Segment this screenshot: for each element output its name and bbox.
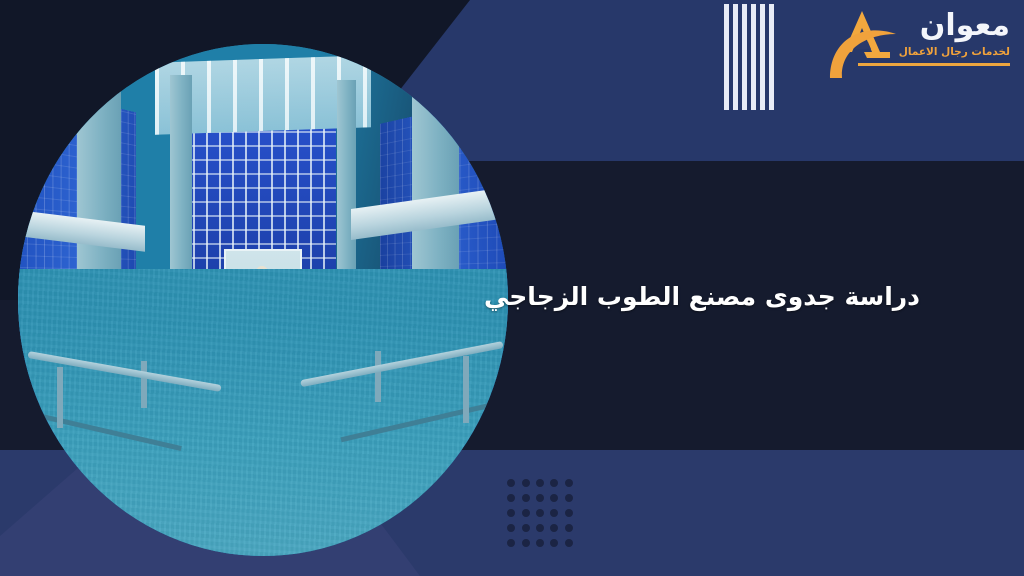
grid-dot bbox=[550, 524, 558, 532]
vertical-bars-icon bbox=[724, 4, 782, 110]
grid-dot bbox=[536, 494, 544, 502]
grid-dot bbox=[522, 539, 530, 547]
grid-dot bbox=[565, 494, 573, 502]
vertical-bar bbox=[724, 4, 729, 110]
vertical-bar bbox=[733, 4, 738, 110]
grid-dot bbox=[536, 509, 544, 517]
vertical-bar bbox=[751, 4, 756, 110]
grid-dot bbox=[522, 479, 530, 487]
walkway-floor-texture bbox=[18, 269, 508, 556]
grid-dot bbox=[507, 509, 515, 517]
railing-post-right-2 bbox=[375, 351, 381, 402]
vertical-bar bbox=[769, 4, 774, 110]
grid-dot bbox=[536, 524, 544, 532]
grid-dot bbox=[550, 494, 558, 502]
grid-dot bbox=[565, 479, 573, 487]
grid-dot bbox=[507, 524, 515, 532]
grid-dot bbox=[507, 539, 515, 547]
grid-dot bbox=[536, 539, 544, 547]
banner-canvas: معوان لخدمات رجال الاعمال دراسة جدوى مصن… bbox=[0, 0, 1024, 576]
railing-post-right-1 bbox=[463, 356, 469, 423]
grid-dot bbox=[522, 494, 530, 502]
concrete-column-left-inner bbox=[170, 75, 192, 300]
logo-text-block: معوان لخدمات رجال الاعمال bbox=[858, 10, 1010, 66]
railing-post-left-2 bbox=[141, 361, 147, 407]
grid-dot bbox=[550, 509, 558, 517]
grid-dot bbox=[536, 479, 544, 487]
page-title: دراسة جدوى مصنع الطوب الزجاجي bbox=[442, 282, 962, 311]
grid-dot bbox=[550, 539, 558, 547]
vertical-bar bbox=[742, 4, 747, 110]
railing-post-left-1 bbox=[57, 367, 63, 428]
grid-dot bbox=[522, 524, 530, 532]
glass-block-corridor-photo bbox=[18, 44, 508, 556]
dot-grid-icon bbox=[504, 476, 576, 550]
grid-dot bbox=[565, 539, 573, 547]
grid-dot bbox=[507, 494, 515, 502]
brand-tagline: لخدمات رجال الاعمال bbox=[858, 46, 1010, 58]
grid-dot bbox=[565, 524, 573, 532]
grid-dot bbox=[507, 479, 515, 487]
photo-backdrop bbox=[18, 44, 508, 556]
vertical-bar bbox=[760, 4, 765, 110]
brand-logo: معوان لخدمات رجال الاعمال bbox=[820, 6, 1010, 98]
grid-dot bbox=[522, 509, 530, 517]
grid-dot bbox=[565, 509, 573, 517]
brand-name: معوان bbox=[858, 10, 1010, 42]
logo-underline bbox=[858, 63, 1010, 66]
grid-dot bbox=[550, 479, 558, 487]
